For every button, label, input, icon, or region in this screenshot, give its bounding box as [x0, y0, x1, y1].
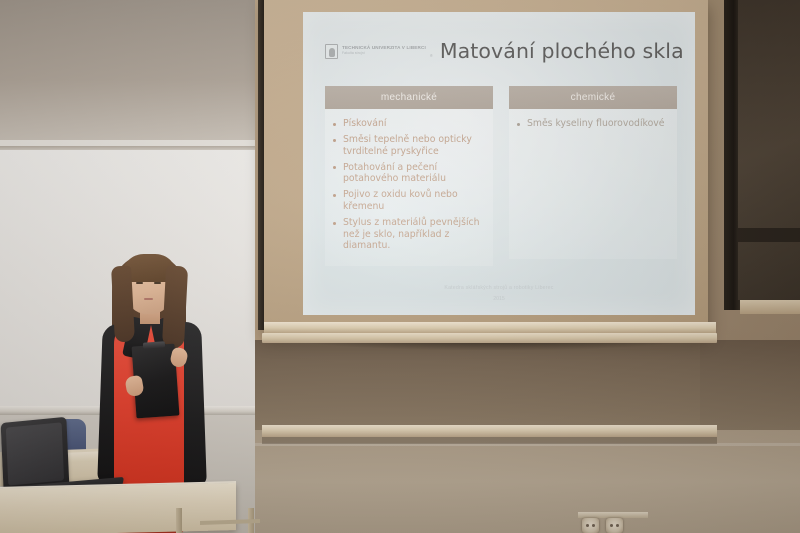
column-body-mechanical: Pískování Směsi tepelně nebo opticky tvr… — [325, 109, 493, 266]
beige-desk — [0, 483, 236, 533]
window-mullion — [738, 228, 800, 242]
logo-text-block: TECHNICKÁ UNIVERZITA V LIBERCI Fakulta s… — [342, 46, 426, 55]
slide-title: Matování plochého skla — [440, 39, 684, 63]
slide-footer-year: 2015 — [303, 295, 695, 304]
column-header-chemical: chemické — [509, 86, 677, 109]
socket-pin-icon — [586, 524, 589, 527]
desk-leg — [176, 508, 182, 533]
list-item: Směs kyseliny fluorovodíkové — [516, 118, 671, 130]
eye-left — [136, 282, 143, 284]
slide-header: TECHNICKÁ UNIVERZITA V LIBERCI Fakulta s… — [303, 34, 695, 68]
socket-pin-icon — [610, 524, 613, 527]
dark-window — [738, 0, 800, 300]
slide-columns: mechanické Pískování Směsi tepelně nebo … — [325, 86, 677, 266]
bullet-list-chemical: Směs kyseliny fluorovodíkové — [516, 118, 671, 130]
hair-left — [111, 266, 135, 343]
list-item: Stylus z materiálů pevnějších než je skl… — [332, 217, 487, 252]
hair-right — [162, 265, 188, 348]
logo-faculty-name: Fakulta strojní — [342, 52, 426, 55]
wall-rail-lower — [262, 425, 717, 437]
column-mechanical: mechanické Pískování Směsi tepelně nebo … — [325, 86, 493, 266]
list-item: Pískování — [332, 118, 487, 130]
socket-pin-icon — [592, 524, 595, 527]
column-body-chemical: Směs kyseliny fluorovodíkové — [509, 109, 677, 259]
eye-right — [154, 282, 161, 284]
slide-footer-department: Katedra sklářských strojů a robotiky Lib… — [303, 284, 695, 293]
power-socket — [582, 518, 599, 533]
wall-rail-shadow — [262, 437, 717, 444]
wall-rail-upper — [262, 333, 717, 343]
window-sill — [740, 300, 800, 314]
list-item: Potahování a pečení potahového materiálu — [332, 162, 487, 185]
column-header-mechanical: mechanické — [325, 86, 493, 109]
bullet-list-mechanical: Pískování Směsi tepelně nebo opticky tvr… — [332, 118, 487, 252]
list-item: Směsi tepelně nebo opticky tvrditelné pr… — [332, 134, 487, 157]
slide-footer: Katedra sklářských strojů a robotiky Lib… — [303, 284, 695, 304]
mouth — [144, 298, 153, 300]
power-socket — [606, 518, 623, 533]
socket-pin-icon — [616, 524, 619, 527]
projection-screen: TECHNICKÁ UNIVERZITA V LIBERCI Fakulta s… — [303, 12, 695, 315]
lecture-room-photo: TECHNICKÁ UNIVERZITA V LIBERCI Fakulta s… — [0, 0, 800, 533]
university-logo: TECHNICKÁ UNIVERZITA V LIBERCI Fakulta s… — [325, 44, 433, 59]
list-item: Pojivo z oxidu kovů nebo křemenu — [332, 189, 487, 212]
registered-mark-icon: ® — [430, 53, 433, 58]
logo-university-name: TECHNICKÁ UNIVERZITA V LIBERCI — [342, 46, 426, 51]
shield-icon — [325, 44, 338, 59]
column-chemical: chemické Směs kyseliny fluorovodíkové — [509, 86, 677, 266]
